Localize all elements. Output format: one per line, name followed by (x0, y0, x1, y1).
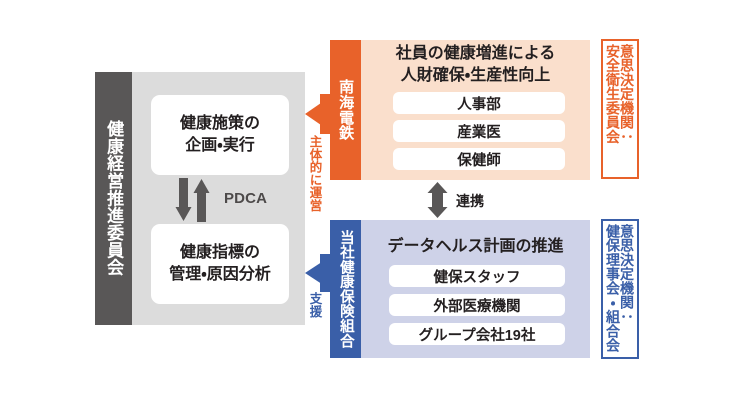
company-decision-body-value: 安全衛生委員会 (606, 44, 620, 144)
card-policy-planning: 健康施策の 企画・実行 (151, 95, 289, 175)
pdca-label: PDCA (224, 190, 267, 207)
pdca-cycle-arrows: PDCA (151, 176, 289, 224)
company-decision-body-note: 意思決定機関： 安全衛生委員会 (601, 39, 639, 179)
company-member-chip: 人事部 (393, 92, 565, 114)
kenpo-side-label-bar: 当社健康保険組合 (330, 220, 361, 358)
double-arrow-icon (424, 182, 452, 218)
company-title: 社員の健康増進による 人財確保・生産性向上 (361, 43, 590, 87)
kenpo-member-chip: グループ会社19社 (389, 323, 565, 345)
connector-support: 支援 (300, 252, 334, 330)
cooperation-connector: 連携 (424, 182, 534, 218)
card-indicator-management-line1: 健康指標の (180, 242, 260, 264)
company-side-label-bar: 南海電鉄 (330, 40, 361, 180)
health-management-committee-block: 健康経営推進委員会 健康施策の 企画・実行 PDCA 健康指標 (95, 72, 305, 325)
kenpo-member-chip: 外部医療機関 (389, 294, 565, 316)
connector-operate-proactively: 主体的に運営 (300, 92, 334, 190)
kenpo-decision-body-head: 意思決定機関： (620, 224, 634, 324)
left-arrow-icon-blue (300, 252, 334, 330)
card-policy-planning-line2: 企画・実行 (185, 135, 254, 157)
company-member-chip: 産業医 (393, 120, 565, 142)
cooperation-label: 連携 (456, 191, 484, 211)
company-panel: 南海電鉄 社員の健康増進による 人財確保・生産性向上 人事部 産業医 保健師 (330, 40, 590, 180)
pdca-arrow-icon (151, 176, 289, 224)
company-side-label: 南海電鉄 (338, 79, 353, 140)
connector-support-label: 支援 (308, 292, 321, 318)
diagram-canvas: 健康経営推進委員会 健康施策の 企画・実行 PDCA 健康指標 (0, 0, 751, 404)
card-indicator-management-line2: 管理・原因分析 (169, 264, 270, 286)
kenpo-side-label: 当社健康保険組合 (338, 230, 353, 348)
committee-side-label-bar: 健康経営推進委員会 (95, 72, 132, 325)
kenpo-panel: 当社健康保険組合 データヘルス計画の推進 健保スタッフ 外部医療機関 グループ会… (330, 220, 590, 358)
committee-side-label: 健康経営推進委員会 (105, 120, 122, 276)
kenpo-decision-body-note: 意思決定機関： 健保理事会・組合会 (601, 219, 639, 359)
card-indicator-management: 健康指標の 管理・原因分析 (151, 224, 289, 304)
kenpo-member-chip: 健保スタッフ (389, 265, 565, 287)
company-member-chip: 保健師 (393, 148, 565, 170)
connector-operate-proactively-label: 主体的に運営 (308, 135, 321, 212)
kenpo-decision-body-value: 健保理事会・組合会 (606, 224, 620, 353)
kenpo-title: データヘルス計画の推進 (361, 232, 590, 256)
card-policy-planning-line1: 健康施策の (180, 113, 260, 135)
company-title-line2: 人財確保・生産性向上 (361, 65, 590, 87)
company-title-line1: 社員の健康増進による (361, 43, 590, 65)
company-decision-body-head: 意思決定機関： (620, 44, 634, 144)
